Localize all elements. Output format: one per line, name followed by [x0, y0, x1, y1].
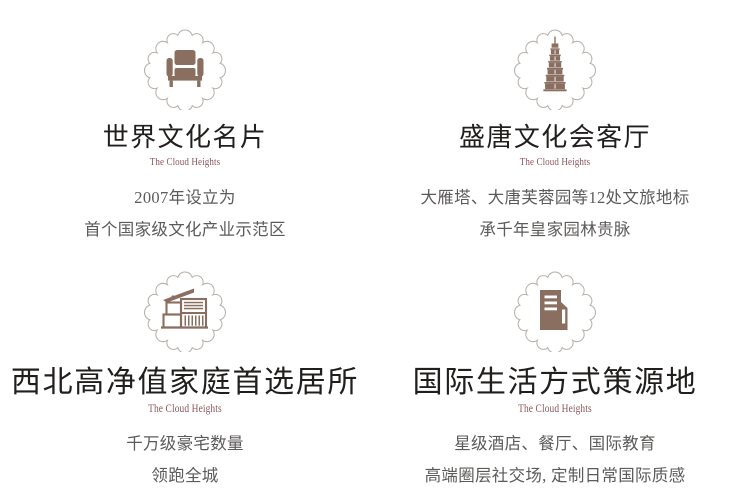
feature-card-luxury-residence[interactable]: 西北高净值家庭首选居所 The Cloud Heights 千万级豪宅数量 领跑… [0, 244, 370, 494]
feature-title-cn: 国际生活方式策源地 [413, 366, 698, 399]
office-building-icon [507, 266, 603, 352]
feature-description: 2007年设立为 首个国家级文化产业示范区 [84, 182, 286, 246]
description-line: 领跑全城 [126, 460, 244, 492]
feature-description: 千万级豪宅数量 领跑全城 [126, 428, 244, 492]
description-line: 首个国家级文化产业示范区 [84, 214, 286, 246]
pagoda-icon [507, 24, 603, 110]
armchair-icon [137, 24, 233, 110]
feature-title-cn: 世界文化名片 [103, 124, 268, 153]
feature-title-cn: 盛唐文化会客厅 [459, 124, 651, 153]
feature-card-international-lifestyle[interactable]: 国际生活方式策源地 The Cloud Heights 星级酒店、餐厅、国际教育… [370, 244, 740, 494]
feature-description: 星级酒店、餐厅、国际教育 高端圈层社交场, 定制日常国际质感 [425, 428, 686, 492]
feature-grid: 世界文化名片 The Cloud Heights 2007年设立为 首个国家级文… [0, 0, 740, 494]
feature-title-en: The Cloud Heights [148, 403, 222, 415]
description-line: 2007年设立为 [84, 182, 286, 214]
feature-card-tang-culture[interactable]: 盛唐文化会客厅 The Cloud Heights 大雁塔、大唐芙蓉园等12处文… [370, 0, 740, 244]
description-line: 大雁塔、大唐芙蓉园等12处文旅地标 [420, 182, 689, 214]
description-line: 千万级豪宅数量 [126, 428, 244, 460]
description-line: 承千年皇家园林贵脉 [420, 214, 689, 246]
villa-icon [137, 266, 233, 352]
feature-card-world-culture[interactable]: 世界文化名片 The Cloud Heights 2007年设立为 首个国家级文… [0, 0, 370, 244]
feature-title-en: The Cloud Heights [518, 403, 592, 415]
feature-title-en: The Cloud Heights [520, 156, 590, 168]
feature-title-en: The Cloud Heights [150, 156, 220, 168]
feature-title-cn: 西北高净值家庭首选居所 [11, 366, 359, 399]
description-line: 高端圈层社交场, 定制日常国际质感 [425, 460, 686, 492]
description-line: 星级酒店、餐厅、国际教育 [425, 428, 686, 460]
feature-description: 大雁塔、大唐芙蓉园等12处文旅地标 承千年皇家园林贵脉 [420, 182, 689, 246]
